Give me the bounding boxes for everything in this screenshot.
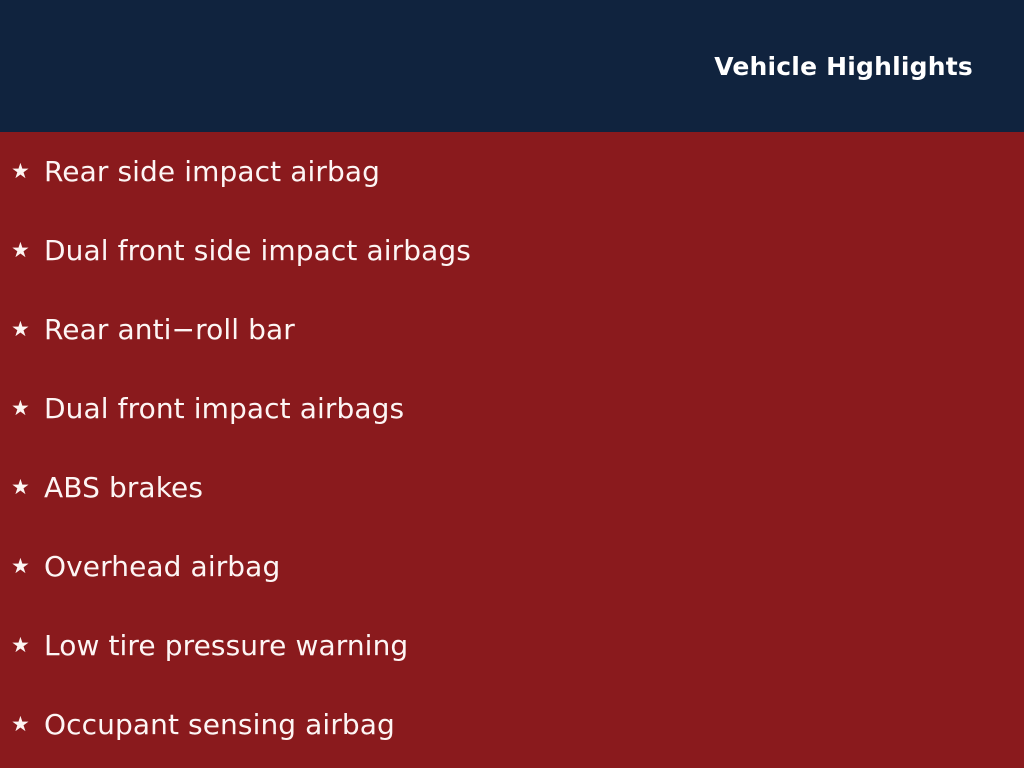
- list-item: ★ ABS brakes: [0, 448, 1024, 527]
- star-icon: ★: [11, 477, 44, 498]
- highlight-label: Dual front side impact airbags: [44, 237, 471, 265]
- star-icon: ★: [11, 398, 44, 419]
- star-icon: ★: [11, 714, 44, 735]
- list-item: ★ Overhead airbag: [0, 527, 1024, 606]
- list-item: ★ Rear side impact airbag: [0, 132, 1024, 211]
- list-item: ★ Low tire pressure warning: [0, 606, 1024, 685]
- page-title: Vehicle Highlights: [714, 54, 973, 79]
- star-icon: ★: [11, 240, 44, 261]
- list-item: ★ Rear anti−roll bar: [0, 290, 1024, 369]
- vehicle-highlights-list: ★ Rear side impact airbag ★ Dual front s…: [0, 132, 1024, 764]
- highlight-label: Dual front impact airbags: [44, 395, 404, 423]
- star-icon: ★: [11, 319, 44, 340]
- highlight-label: Overhead airbag: [44, 553, 280, 581]
- highlight-label: Rear anti−roll bar: [44, 316, 295, 344]
- highlight-label: ABS brakes: [44, 474, 203, 502]
- list-item: ★ Dual front impact airbags: [0, 369, 1024, 448]
- star-icon: ★: [11, 161, 44, 182]
- star-icon: ★: [11, 635, 44, 656]
- slide-body: ★ Rear side impact airbag ★ Dual front s…: [0, 132, 1024, 768]
- highlight-label: Low tire pressure warning: [44, 632, 408, 660]
- highlight-label: Rear side impact airbag: [44, 158, 380, 186]
- star-icon: ★: [11, 556, 44, 577]
- highlight-label: Occupant sensing airbag: [44, 711, 395, 739]
- slide-header: Vehicle Highlights: [0, 0, 1024, 132]
- list-item: ★ Occupant sensing airbag: [0, 685, 1024, 764]
- list-item: ★ Dual front side impact airbags: [0, 211, 1024, 290]
- vehicle-highlights-slide: Vehicle Highlights ★ Rear side impact ai…: [0, 0, 1024, 768]
